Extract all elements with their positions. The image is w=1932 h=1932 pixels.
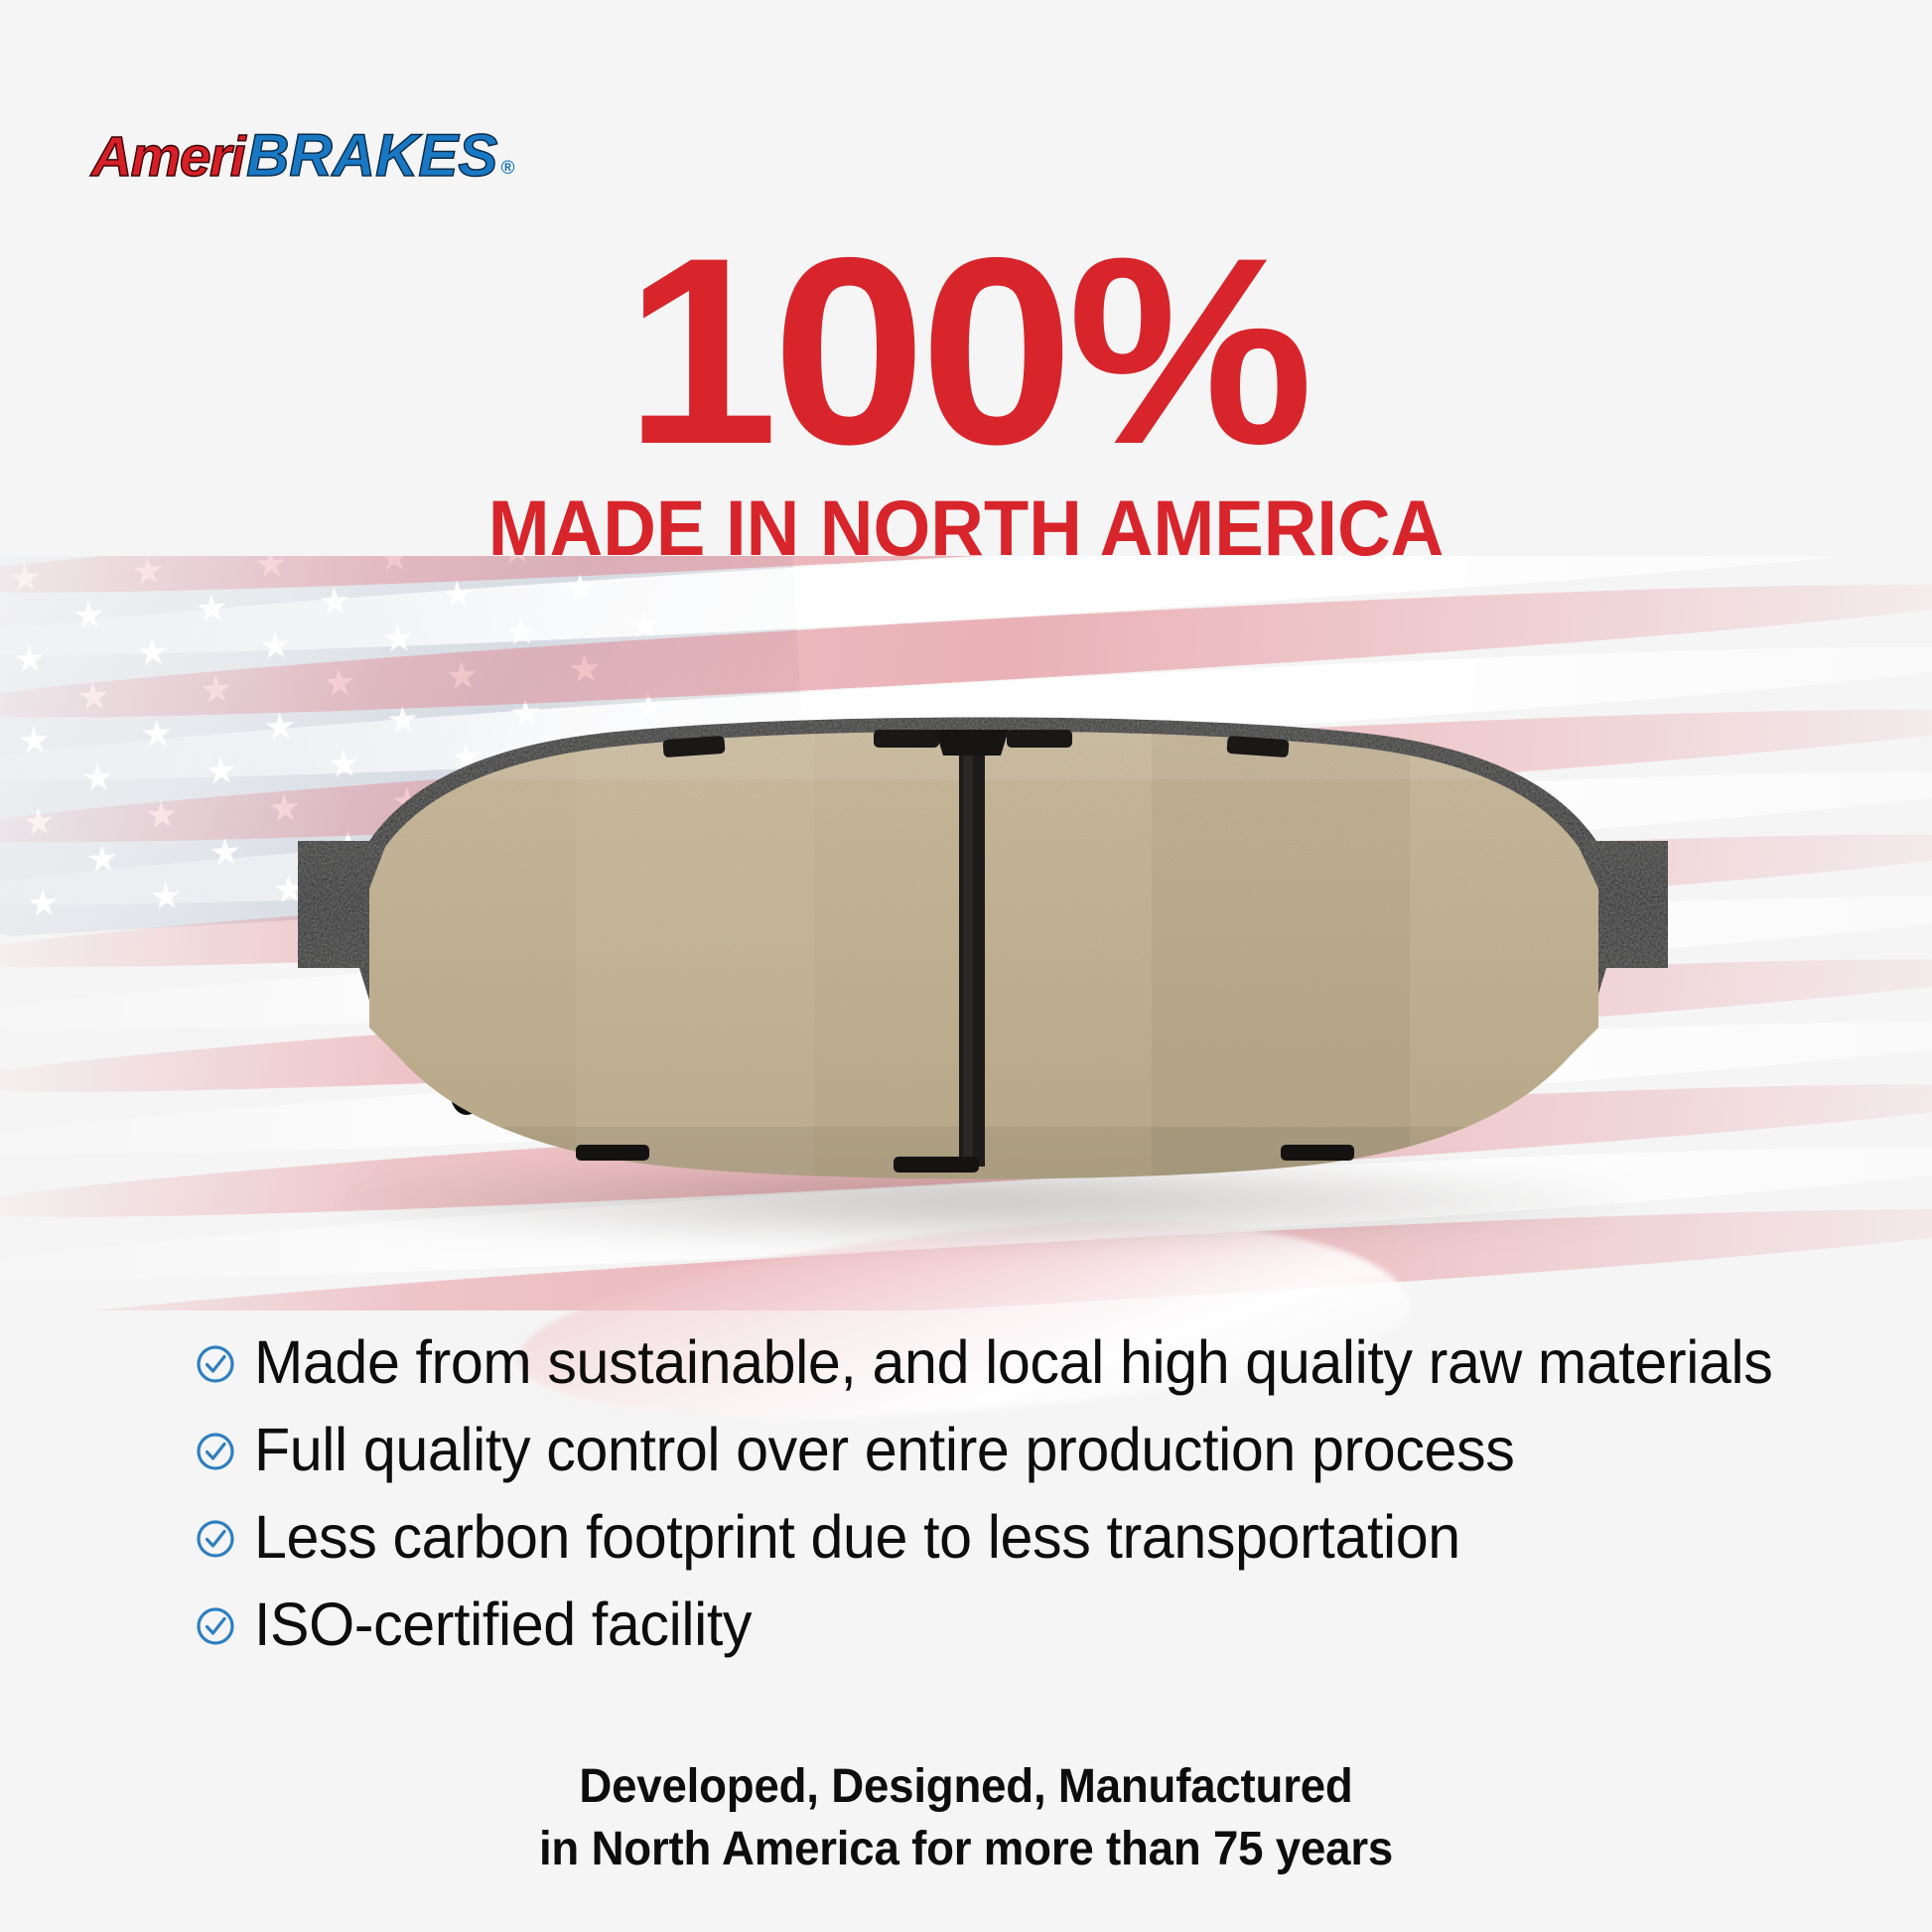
- list-item: Made from sustainable, and local high qu…: [195, 1330, 1743, 1396]
- flag-star: [505, 617, 537, 648]
- list-item-label: Full quality control over entire product…: [254, 1418, 1514, 1483]
- flag-star: [442, 579, 474, 611]
- list-item: Full quality control over entire product…: [195, 1418, 1743, 1483]
- check-circle-icon: [195, 1605, 236, 1647]
- flag-star: [324, 667, 355, 699]
- list-item-label: ISO-certified facility: [254, 1592, 752, 1658]
- flag-star: [73, 600, 105, 631]
- footer-line-1: Developed, Designed, Manufactured: [49, 1755, 1884, 1818]
- headline-block: 100% MADE IN NORTH AMERICA: [0, 226, 1932, 567]
- flag-star: [447, 660, 479, 692]
- brand-logo-ameri: Ameri: [91, 124, 244, 190]
- benefits-list: Made from sustainable, and local high qu…: [195, 1330, 1743, 1680]
- flag-star: [146, 799, 178, 831]
- headline-subtitle: MADE IN NORTH AMERICA: [58, 488, 1873, 567]
- flag-star: [151, 881, 183, 912]
- brake-pad-illustration: [278, 730, 1688, 1266]
- flag-stripe: [0, 562, 1932, 740]
- flag-stripe: [0, 556, 1932, 677]
- flag-star: [14, 644, 46, 676]
- check-circle-icon: [195, 1518, 236, 1560]
- flag-star: [201, 674, 232, 706]
- flag-star: [82, 762, 114, 794]
- flag-star: [206, 756, 237, 787]
- list-item: ISO-certified facility: [195, 1592, 1743, 1658]
- flag-star: [382, 623, 414, 655]
- flag-star: [510, 698, 542, 730]
- flag-star: [141, 719, 173, 751]
- brand-logo-brakes: BRAKES: [246, 121, 497, 190]
- headline-percent: 100%: [0, 226, 1932, 477]
- list-item: Less carbon footprint due to less transp…: [195, 1505, 1743, 1571]
- footer-block: Developed, Designed, Manufactured in Nor…: [0, 1755, 1932, 1881]
- flag-star: [86, 844, 118, 876]
- flag-star: [137, 637, 169, 669]
- list-item-label: Less carbon footprint due to less transp…: [254, 1505, 1460, 1571]
- flag-star: [319, 586, 350, 618]
- flag-star: [569, 653, 601, 685]
- marketing-banner: AmeriBRAKES® 100% MADE IN NORTH AMERICA: [0, 0, 1932, 1932]
- list-item-label: Made from sustainable, and local high qu…: [254, 1330, 1772, 1396]
- flag-star: [628, 610, 660, 641]
- flag-star: [209, 837, 241, 869]
- brake-pad-image: [278, 730, 1688, 1266]
- flag-star: [28, 888, 60, 919]
- check-circle-icon: [195, 1431, 236, 1472]
- brand-logo[interactable]: AmeriBRAKES®: [91, 121, 513, 190]
- flag-star: [9, 563, 41, 595]
- flag-star: [77, 681, 109, 713]
- flag-star: [633, 691, 665, 723]
- flag-star: [196, 593, 227, 624]
- flag-star: [260, 630, 292, 662]
- check-circle-icon: [195, 1343, 236, 1385]
- flag-star: [19, 725, 51, 757]
- flag-star: [23, 806, 55, 838]
- footer-line-2: in North America for more than 75 years: [49, 1818, 1884, 1880]
- registered-trademark-icon: ®: [500, 158, 513, 180]
- flag-star: [565, 573, 597, 605]
